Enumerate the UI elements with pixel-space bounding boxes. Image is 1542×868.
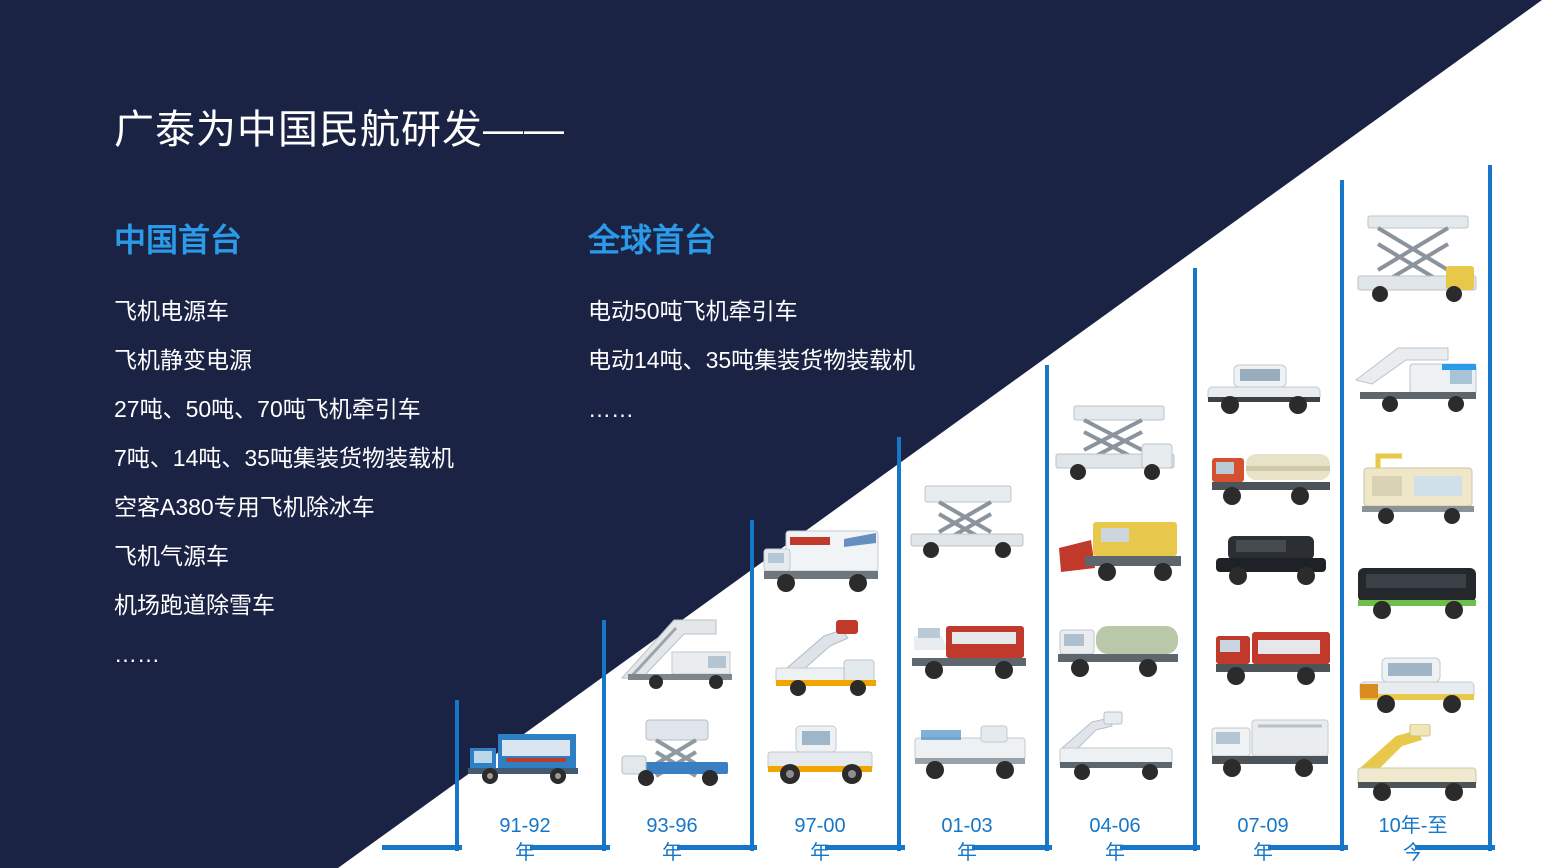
timeline-label-line1: 07-09 [1208,813,1318,840]
timeline-label-line1: 04-06 [1060,813,1170,840]
vehicle-photo-crane-truck [1352,724,1486,804]
timeline-label-line2: 年 [617,840,727,867]
vehicle-photo-scissor-catering [1050,400,1182,484]
vehicle-photo-aircraft-tractor [758,712,884,788]
vehicle-photo-snow-plow [1055,512,1187,594]
timeline-label: 93-96 年 [617,813,727,867]
vehicle-photo-scissor-lift-truck [616,710,740,788]
vehicle-photo-fire-rescue-truck [908,608,1034,688]
timeline-label-line2: 年 [765,840,875,867]
vehicle-photo-deicing-truck [766,612,890,698]
vehicle-photo-electric-baggage-tractor [1352,650,1484,722]
slide-root: 广泰为中国民航研发—— 中国首台 飞机电源车 飞机静变电源 27吨、50吨、70… [0,0,1542,868]
timeline-tick [1045,365,1049,851]
timeline-label: 07-09 年 [1208,813,1318,867]
vehicle-photo-scissor-platform [903,480,1031,562]
timeline-baseline-segment [382,845,462,850]
timeline-label-line2: 年 [1208,840,1318,867]
vehicle-photo-ground-power-unit [1352,450,1484,530]
timeline-tick [1488,165,1492,851]
timeline-tick [1193,268,1197,851]
timeline-label-line1: 91-92 [470,813,580,840]
timeline-label-line2: 今 [1358,840,1468,867]
timeline-label-line2: 年 [912,840,1022,867]
timeline-tick [455,700,459,851]
timeline-label: 97-00 年 [765,813,875,867]
vehicle-photo-electric-tow-tractor [1206,528,1336,592]
vehicle-photo-fire-engine [1210,620,1336,696]
timeline-label-line2: 年 [1060,840,1170,867]
timeline-label: 10年-至 今 [1358,813,1468,867]
vehicle-photo-refueller-truck [1206,440,1338,516]
timeline-label-line1: 10年-至 [1358,813,1468,840]
timeline-tick [897,437,901,851]
vehicle-photo-cargo-loader [905,716,1035,788]
timeline-tick [602,620,606,851]
timeline-label: 91-92 年 [470,813,580,867]
timeline-tick [750,520,754,851]
timeline-label: 04-06 年 [1060,813,1170,867]
timeline-label-line1: 97-00 [765,813,875,840]
vehicle-photo-water-tanker [1052,610,1186,690]
vehicle-photo-boom-lift-truck [1052,708,1188,788]
timeline-label-line2: 年 [470,840,580,867]
vehicle-photo-electric-bus [1350,556,1484,628]
vehicle-photo-electric-tractor [1200,355,1332,419]
vehicle-photo-catering-hi-lift [760,523,886,603]
vehicle-photo-crew-truck [1206,710,1336,788]
timeline-label-line1: 01-03 [912,813,1022,840]
timeline-label: 01-03 年 [912,813,1022,867]
vehicle-photo-ambulift [1350,330,1484,416]
timeline-tick [1340,180,1344,851]
vehicle-photo-catering-truck [462,718,594,790]
vehicle-photo-passenger-stairs [612,600,742,690]
vehicle-photo-maintenance-platform [1350,212,1484,304]
timeline-label-line1: 93-96 [617,813,727,840]
